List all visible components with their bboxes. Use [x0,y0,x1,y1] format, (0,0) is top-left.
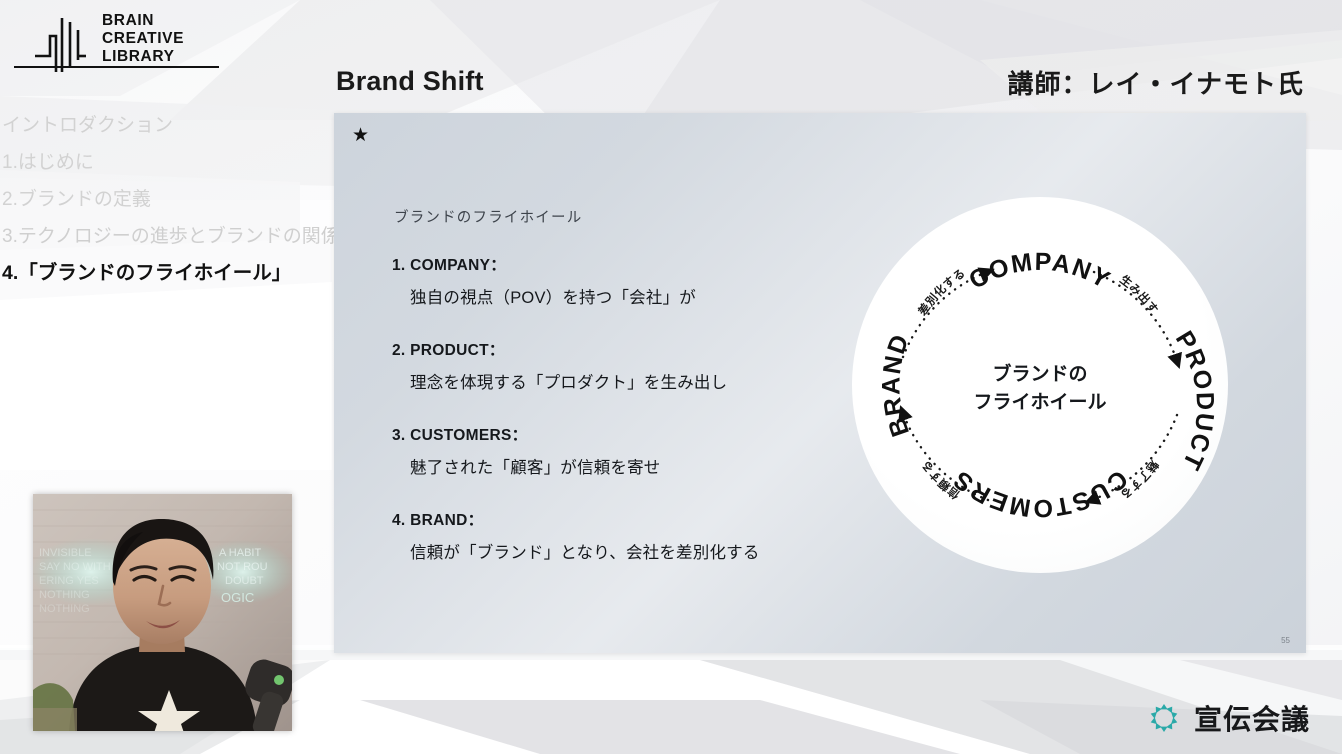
brand-line-1: BRAIN [102,12,184,30]
svg-text:SAY NO WITH: SAY NO WITH [39,561,111,573]
sidebar-item-4-active[interactable]: 4.「ブランドのフライホイール」 [0,264,332,284]
svg-text:NOTHING: NOTHING [39,603,90,615]
flywheel-center-line-1: ブランドの [992,362,1087,385]
page-title: Brand Shift [336,66,484,97]
slide-page-number: 55 [1281,636,1290,645]
bullet-heading: 3. CUSTOMERS： [392,423,822,445]
bullet-heading: 4. BRAND： [392,508,822,530]
bullet-heading: 1. COMPANY： [392,253,822,275]
publisher-logo: 宣伝会議 [1146,698,1310,738]
publisher-name: 宣伝会議 [1194,698,1310,738]
sidebar-item-intro[interactable]: イントロダクション [0,116,332,135]
sendenkaigi-circle-icon [1146,700,1182,736]
bullet-item: 2. PRODUCT： 理念を体現する「プロダクト」を生み出し [392,338,822,393]
presentation-viewer: BRAIN CREATIVE LIBRARY イントロダクション 1.はじめに … [0,0,1342,754]
slide-lead-text: ブランドのフライホイール [394,206,582,227]
sidebar-item-2[interactable]: 2.ブランドの定義 [0,190,332,209]
svg-text:INVISIBLE: INVISIBLE [39,547,92,559]
star-icon: ★ [352,126,369,145]
sidebar-item-3[interactable]: 3.テクノロジーの進歩とブランドの関係 [0,227,332,246]
slide-canvas[interactable]: ★ ブランドのフライホイール 1. COMPANY： 独自の視点（POV）を持つ… [334,113,1306,653]
bullet-body: 魅了された「顧客」が信頼を寄せ [392,454,822,478]
outline-sidebar: イントロダクション 1.はじめに 2.ブランドの定義 3.テクノロジーの進歩とブ… [0,116,332,302]
bullet-item: 3. CUSTOMERS： 魅了された「顧客」が信頼を寄せ [392,423,822,478]
svg-text:DOUBT: DOUBT [225,575,264,587]
bullet-item: 1. COMPANY： 独自の視点（POV）を持つ「会社」が [392,253,822,308]
svg-text:OGIC: OGIC [221,590,254,605]
brand-line-2: CREATIVE [102,30,184,48]
brand-logo-text: BRAIN CREATIVE LIBRARY [102,12,184,66]
bullet-body: 信頼が「ブランド」となり、会社を差別化する [392,539,822,563]
bullet-item: 4. BRAND： 信頼が「ブランド」となり、会社を差別化する [392,508,822,563]
brand-logo: BRAIN CREATIVE LIBRARY [14,14,234,78]
svg-text:NOTHING: NOTHING [39,589,90,601]
svg-text:A HABIT: A HABIT [219,547,261,559]
brand-flywheel-diagram: COMPANY PRODUCT CUSTOMERS BRAND 生み出す [830,175,1250,595]
flywheel-center-line-2: フライホイール [973,391,1106,413]
brand-logo-rule [14,66,219,68]
svg-text:NOT ROU: NOT ROU [217,561,268,573]
bullet-body: 独自の視点（POV）を持つ「会社」が [392,284,822,308]
slide-bullet-list: 1. COMPANY： 独自の視点（POV）を持つ「会社」が 2. PRODUC… [392,253,822,563]
svg-text:ERING YES: ERING YES [39,575,99,587]
bullet-heading: 2. PRODUCT： [392,338,822,360]
brand-line-3: LIBRARY [102,48,184,66]
speaker-label: 講師：レイ・イナモト氏 [1008,64,1304,101]
bullet-body: 理念を体現する「プロダクト」を生み出し [392,369,822,393]
sidebar-item-1[interactable]: 1.はじめに [0,153,332,172]
presenter-video[interactable]: INVISIBLE SAY NO WITH ERING YES NOTHING … [33,494,292,731]
